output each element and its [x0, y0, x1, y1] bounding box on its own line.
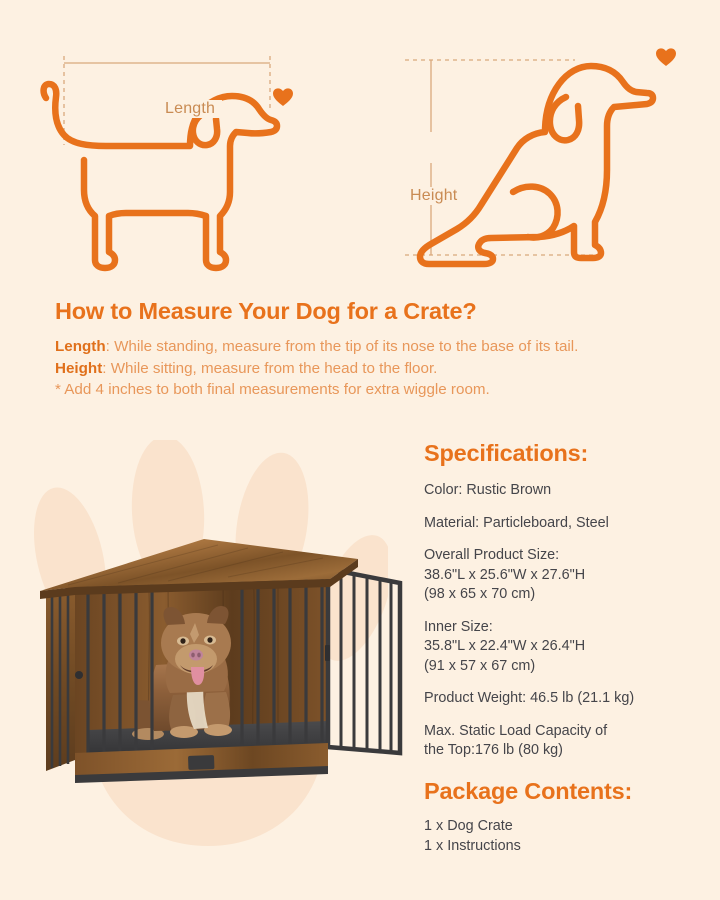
crate-door[interactable]: [328, 569, 400, 753]
sitting-dog-diagram: Height: [395, 40, 705, 285]
spec-material: Material: Particleboard, Steel: [424, 514, 700, 534]
how-to-measure-title: How to Measure Your Dog for a Crate?: [55, 298, 675, 325]
dog-crate-product-photo: [28, 525, 418, 790]
spec-color: Color: Rustic Brown: [424, 481, 700, 501]
spec-inner-size: Inner Size: 35.8"L x 22.4"W x 26.4"H (91…: [424, 618, 700, 677]
height-term: Height: [55, 360, 102, 377]
product-info-column: Specifications: Color: Rustic Brown Mate…: [424, 440, 700, 857]
package-contents-list: 1 x Dog Crate 1 x Instructions: [424, 816, 700, 857]
specifications-title: Specifications:: [424, 440, 700, 467]
measure-note: * Add 4 inches to both final measurement…: [55, 379, 675, 401]
spec-product-weight: Product Weight: 46.5 lb (21.1 kg): [424, 689, 700, 709]
package-contents-title: Package Contents:: [424, 778, 700, 805]
length-term: Length: [55, 338, 106, 355]
standing-dog-diagram: Length: [40, 40, 360, 280]
dog-standing-outline-icon: [40, 40, 360, 280]
package-item-crate: 1 x Dog Crate: [424, 816, 700, 837]
dog-sitting-outline-icon: [395, 40, 705, 285]
measurement-diagrams: Length Height: [0, 0, 720, 290]
height-description: : While sitting, measure from the head t…: [102, 360, 437, 377]
length-dimension-label: Length: [158, 100, 222, 118]
specifications-list: Color: Rustic Brown Material: Particlebo…: [424, 481, 700, 761]
heart-icon: [656, 48, 676, 66]
measure-line-height: Height: While sitting, measure from the …: [55, 358, 675, 380]
spec-overall-size: Overall Product Size: 38.6"L x 25.6"W x …: [424, 546, 700, 605]
package-item-instructions: 1 x Instructions: [424, 836, 700, 857]
how-to-measure-section: How to Measure Your Dog for a Crate? Len…: [55, 298, 675, 401]
measure-line-length: Length: While standing, measure from the…: [55, 336, 675, 358]
spec-load-capacity: Max. Static Load Capacity of the Top:176…: [424, 722, 700, 761]
package-contents-section: Package Contents: 1 x Dog Crate 1 x Inst…: [424, 778, 700, 857]
height-dimension-label: Height: [403, 187, 464, 205]
heart-icon: [273, 88, 293, 106]
length-description: : While standing, measure from the tip o…: [106, 338, 579, 355]
